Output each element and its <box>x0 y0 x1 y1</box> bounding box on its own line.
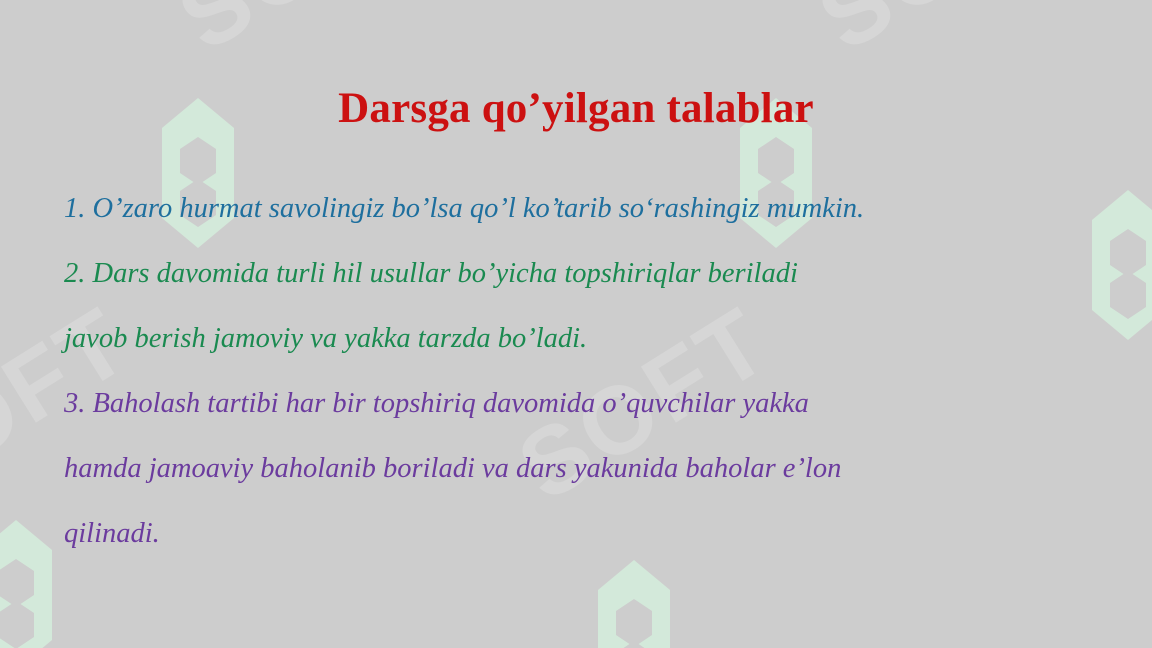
list-item: 1. O’zaro hurmat savolingiz bo’lsa qo’l … <box>64 176 1104 241</box>
page-title: Darsga qo’yilgan talablar <box>0 84 1152 133</box>
list-item: 2. Dars davomida turli hil usullar bo’yi… <box>64 241 1104 371</box>
list-item-line: 1. O’zaro hurmat savolingiz bo’lsa qo’l … <box>64 176 1104 241</box>
list-item-line: 2. Dars davomida turli hil usullar bo’yi… <box>64 241 1104 306</box>
list-item-line: 3. Baholash tartibi har bir topshiriq da… <box>64 371 1104 436</box>
slide-content: Darsga qo’yilgan talablar 1. O’zaro hurm… <box>0 0 1152 648</box>
list-item: 3. Baholash tartibi har bir topshiriq da… <box>64 371 1104 566</box>
list-item-line: qilinadi. <box>64 501 1104 566</box>
list-item-line: javob berish jamoviy va yakka tarzda bo’… <box>64 306 1104 371</box>
list-item-line: hamda jamoaviy baholanib boriladi va dar… <box>64 436 1104 501</box>
presentation-slide: SOFT SOFT SOFT SOFT SOFT <box>0 0 1152 648</box>
requirements-list: 1. O’zaro hurmat savolingiz bo’lsa qo’l … <box>64 176 1104 566</box>
